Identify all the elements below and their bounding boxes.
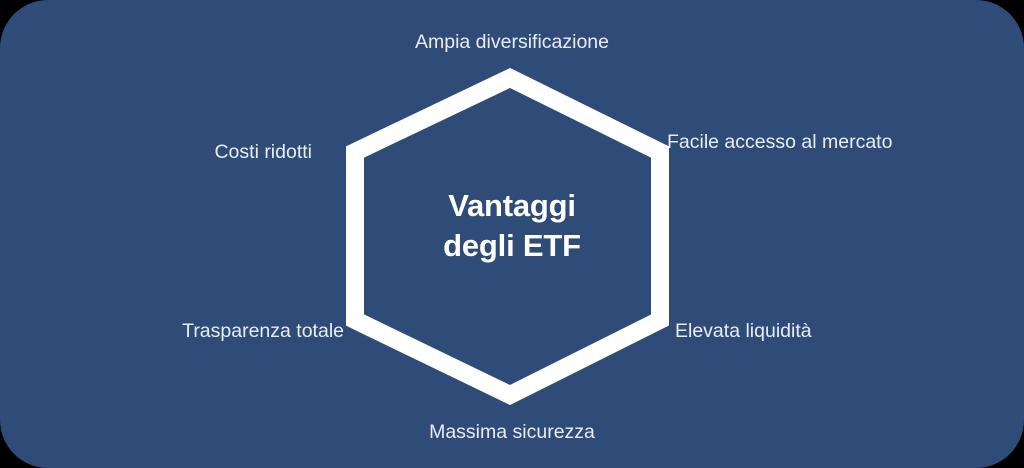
center-title: Vantaggi degli ETF	[0, 186, 1024, 265]
label-facile-accesso-al-mercato: Facile accesso al mercato	[667, 131, 892, 154]
label-ampia-diversificazione: Ampia diversificazione	[0, 31, 1024, 54]
label-elevata-liquidita: Elevata liquidità	[675, 320, 812, 343]
etf-benefits-infographic: Vantaggi degli ETF Ampia diversificazion…	[0, 0, 1024, 468]
label-massima-sicurezza: Massima sicurezza	[0, 421, 1024, 444]
label-trasparenza-totale: Trasparenza totale	[182, 320, 344, 343]
label-costi-ridotti: Costi ridotti	[214, 141, 312, 164]
